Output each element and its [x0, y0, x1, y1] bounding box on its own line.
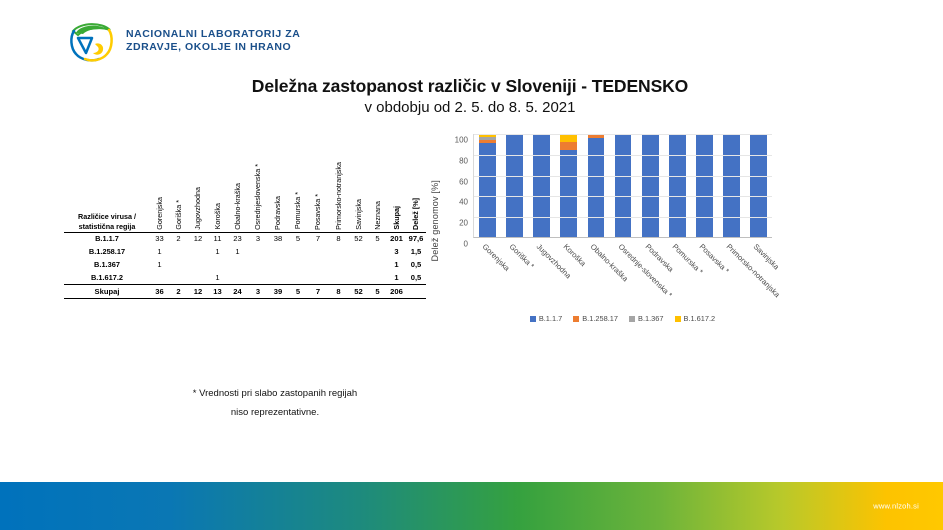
cell: 7: [308, 284, 328, 298]
chart-bar-slot[interactable]: [501, 134, 528, 237]
brand-name-line1: NACIONALNI LABORATORIJ ZA: [126, 28, 300, 41]
cell: 12: [188, 284, 208, 298]
chart-bar-segment[interactable]: [588, 138, 605, 237]
cell: 52: [349, 232, 368, 245]
cell: [188, 271, 208, 284]
cell: 5: [288, 232, 308, 245]
chart-bar[interactable]: [479, 134, 496, 237]
legend-label: B.1.367: [638, 314, 663, 323]
chart-bar-slot[interactable]: [718, 134, 745, 237]
col-header-koroska: Koroška: [208, 160, 227, 232]
cell-percent: [406, 284, 426, 298]
cell: 23: [227, 232, 248, 245]
footnote: * Vrednosti pri slabo zastopanih regijah…: [145, 385, 405, 422]
cell: 3: [248, 284, 268, 298]
col-header-savinjska: Savinjska: [349, 160, 368, 232]
cell: 1: [227, 245, 248, 258]
chart-gridline: [474, 196, 772, 197]
cell: 1: [150, 245, 169, 258]
chart-y-axis-ticks: 020406080100: [446, 134, 470, 238]
slide-canvas: NACIONALNI LABORATORIJ ZA ZDRAVJE, OKOLJ…: [0, 0, 943, 530]
chart-gridline: [474, 217, 772, 218]
cell: 2: [169, 284, 188, 298]
chart-x-axis-ticks: GorenjskaGoriška *JugovzhodnaKoroškaObal…: [473, 240, 772, 310]
cell: [349, 245, 368, 258]
cell: 52: [349, 284, 368, 298]
chart-x-tick-slot: Posavska *: [691, 240, 718, 310]
cell-total: 1: [387, 258, 406, 271]
col-header-goriska: Goriška *: [169, 160, 188, 232]
chart-bar-slot[interactable]: [474, 134, 501, 237]
brand-name: NACIONALNI LABORATORIJ ZA ZDRAVJE, OKOLJ…: [126, 28, 300, 54]
cell: 8: [328, 284, 349, 298]
legend-color-swatch: [530, 316, 536, 322]
cell: 3: [248, 232, 268, 245]
page-title: Deležna zastopanost različic v Sloveniji…: [180, 76, 760, 97]
cell: 13: [208, 284, 227, 298]
legend-color-swatch: [573, 316, 579, 322]
cell: 12: [188, 232, 208, 245]
cell: [308, 271, 328, 284]
chart-bar-slot[interactable]: [528, 134, 555, 237]
variants-table-container: Različice virusa / statistična regija Go…: [64, 160, 426, 299]
cell-total: 201: [387, 232, 406, 245]
chart-bar-segment[interactable]: [696, 134, 713, 237]
chart-y-tick: 100: [446, 136, 468, 145]
chart-bar[interactable]: [588, 134, 605, 237]
chart-bar-slot[interactable]: [555, 134, 582, 237]
chart-legend-item[interactable]: B.1.367: [629, 314, 663, 323]
cell: 7: [308, 232, 328, 245]
chart-x-tick-slot: Primorsko-notranjska: [718, 240, 745, 310]
nlzoh-logo-icon: [66, 16, 116, 66]
chart-plot-area: [473, 134, 772, 238]
chart-bar[interactable]: [560, 134, 577, 237]
page-subtitle: v obdobju od 2. 5. do 8. 5. 2021: [180, 99, 760, 116]
chart-x-tick-slot: Savinjska: [745, 240, 772, 310]
cell: [169, 258, 188, 271]
chart-bar-slot[interactable]: [637, 134, 664, 237]
cell: [248, 271, 268, 284]
corner-header-line2: statistična regija: [79, 222, 136, 231]
chart-bars: [474, 134, 772, 237]
chart-bar-segment[interactable]: [642, 134, 659, 237]
chart-x-tick-slot: Pomurska *: [663, 240, 690, 310]
chart-x-tick-slot: Obalno-kraška: [582, 240, 609, 310]
row-label: B.1.367: [64, 258, 150, 271]
chart-y-tick: 60: [446, 177, 468, 186]
row-label: B.1.258.17: [64, 245, 150, 258]
cell: [169, 271, 188, 284]
brand-logo: NACIONALNI LABORATORIJ ZA ZDRAVJE, OKOLJ…: [66, 16, 300, 66]
footnote-line2: niso reprezentativne.: [145, 404, 405, 423]
chart-bar-slot[interactable]: [691, 134, 718, 237]
cell-percent: 0,5: [406, 271, 426, 284]
cell: 5: [288, 284, 308, 298]
cell: [188, 258, 208, 271]
cell: 11: [208, 232, 227, 245]
chart-y-tick: 80: [446, 156, 468, 165]
cell: 38: [268, 232, 288, 245]
chart-x-tick-label: Savinjska: [752, 242, 781, 271]
row-label: B.1.617.2: [64, 271, 150, 284]
footer-url: www.nlzoh.si: [873, 502, 919, 511]
brand-name-line2: ZDRAVJE, OKOLJE IN HRANO: [126, 41, 300, 54]
cell: [248, 258, 268, 271]
cell: [268, 245, 288, 258]
cell: 8: [328, 232, 349, 245]
chart-bar-segment[interactable]: [560, 150, 577, 237]
chart-bar-segment[interactable]: [533, 134, 550, 237]
cell-total: 206: [387, 284, 406, 298]
table-row: B.1.617.2 1 1 0,5: [64, 271, 426, 284]
chart-bar[interactable]: [669, 134, 686, 237]
col-header-osrednjeslovenska: Osrednjeslovenska *: [248, 160, 268, 232]
chart-bar[interactable]: [615, 134, 632, 237]
col-header-primorsko-notranjska: Primorsko-notranjska: [328, 160, 349, 232]
chart-legend-item[interactable]: B.1.617.2: [675, 314, 716, 323]
col-header-skupaj: Skupaj: [387, 160, 406, 232]
corner-header-line1: Različice virusa /: [78, 212, 136, 221]
variants-table: Različice virusa / statistična regija Go…: [64, 160, 426, 299]
table-body: B.1.1.7 33 2 12 11 23 3 38 5 7 8 52 5 20…: [64, 232, 426, 298]
cell: [328, 271, 349, 284]
col-header-gorenjska: Gorenjska: [150, 160, 169, 232]
chart-legend-item[interactable]: B.1.258.17: [573, 314, 618, 323]
chart-bar[interactable]: [723, 134, 740, 237]
cell: [349, 271, 368, 284]
table-row: B.1.367 1 1 0,5: [64, 258, 426, 271]
cell-percent: 97,6: [406, 232, 426, 245]
chart-x-tick-slot: Osrednje-slovenska *: [609, 240, 636, 310]
table-row: B.1.1.7 33 2 12 11 23 3 38 5 7 8 52 5 20…: [64, 232, 426, 245]
row-label: B.1.1.7: [64, 232, 150, 245]
col-header-neznana: Neznana: [368, 160, 387, 232]
legend-color-swatch: [629, 316, 635, 322]
chart-bar[interactable]: [506, 134, 523, 237]
cell: 33: [150, 232, 169, 245]
cell: [288, 271, 308, 284]
chart-y-axis-label: Delež genomov [%]: [430, 180, 440, 261]
col-header-delez: Delež [%]: [406, 160, 426, 232]
chart-x-tick-slot: Koroška: [555, 240, 582, 310]
cell: [169, 245, 188, 258]
chart-bar[interactable]: [750, 134, 767, 237]
chart-bar[interactable]: [533, 134, 550, 237]
cell: 5: [368, 284, 387, 298]
cell-percent: 1,5: [406, 245, 426, 258]
col-header-posavska: Posavska *: [308, 160, 328, 232]
cell: [308, 245, 328, 258]
cell: [368, 271, 387, 284]
legend-label: B.1.1.7: [539, 314, 562, 323]
cell: [150, 271, 169, 284]
cell: [188, 245, 208, 258]
legend-label: B.1.258.17: [582, 314, 618, 323]
chart-bar[interactable]: [642, 134, 659, 237]
cell: [248, 245, 268, 258]
chart-bar-slot[interactable]: [745, 134, 772, 237]
variants-share-chart: Delež genomov [%] 020406080100 Gorenjska…: [432, 128, 782, 343]
cell: [368, 245, 387, 258]
footer-bar: www.nlzoh.si: [0, 482, 943, 530]
chart-gridline: [474, 176, 772, 177]
chart-bar-segment[interactable]: [669, 134, 686, 237]
chart-bar-segment[interactable]: [506, 134, 523, 237]
cell: [227, 271, 248, 284]
col-header-podravska: Podravska: [268, 160, 288, 232]
cell: [208, 258, 227, 271]
chart-x-tick-slot: Podravska: [636, 240, 663, 310]
chart-bar-segment[interactable]: [723, 134, 740, 237]
cell: 24: [227, 284, 248, 298]
cell: 1: [208, 271, 227, 284]
cell: [288, 258, 308, 271]
cell: [268, 258, 288, 271]
legend-label: B.1.617.2: [684, 314, 716, 323]
chart-gridline: [474, 134, 772, 135]
cell: 1: [208, 245, 227, 258]
chart-bar-slot[interactable]: [609, 134, 636, 237]
chart-bar-slot[interactable]: [664, 134, 691, 237]
cell: [368, 258, 387, 271]
chart-bar-slot[interactable]: [582, 134, 609, 237]
chart-x-tick-slot: Jugovzhodna: [527, 240, 554, 310]
chart-y-tick: 20: [446, 219, 468, 228]
table-row: B.1.258.17 1 1 1 3 1,5: [64, 245, 426, 258]
cell: [308, 258, 328, 271]
col-header-jugovzhodna: Jugovzhodna: [188, 160, 208, 232]
cell-total: 1: [387, 271, 406, 284]
table-corner-header: Različice virusa / statistična regija: [64, 160, 150, 232]
chart-y-tick: 40: [446, 198, 468, 207]
chart-bar-segment[interactable]: [750, 134, 767, 237]
cell-total: 3: [387, 245, 406, 258]
col-header-obalno-kraska: Obalno-kraška: [227, 160, 248, 232]
col-header-pomurska: Pomurska *: [288, 160, 308, 232]
chart-legend-item[interactable]: B.1.1.7: [530, 314, 562, 323]
cell: [328, 245, 349, 258]
cell: 5: [368, 232, 387, 245]
table-header-row: Različice virusa / statistična regija Go…: [64, 160, 426, 232]
cell: 2: [169, 232, 188, 245]
cell: 39: [268, 284, 288, 298]
cell: [268, 271, 288, 284]
cell: 1: [150, 258, 169, 271]
chart-legend: B.1.1.7B.1.258.17B.1.367B.1.617.2: [473, 314, 772, 323]
legend-color-swatch: [675, 316, 681, 322]
cell: [328, 258, 349, 271]
chart-x-tick-slot: Goriška *: [500, 240, 527, 310]
chart-bar-segment[interactable]: [615, 134, 632, 237]
cell: 36: [150, 284, 169, 298]
chart-gridline: [474, 155, 772, 156]
cell: [288, 245, 308, 258]
cell: [227, 258, 248, 271]
chart-x-tick-slot: Gorenjska: [473, 240, 500, 310]
chart-bar-segment[interactable]: [560, 142, 577, 150]
table-total-row: Skupaj 36 2 12 13 24 3 39 5 7 8 52 5 206: [64, 284, 426, 298]
chart-y-tick: 0: [446, 240, 468, 249]
cell-percent: 0,5: [406, 258, 426, 271]
total-row-label: Skupaj: [64, 284, 150, 298]
footnote-line1: * Vrednosti pri slabo zastopanih regijah: [145, 385, 405, 404]
chart-bar-segment[interactable]: [560, 134, 577, 142]
chart-bar[interactable]: [696, 134, 713, 237]
chart-bar-segment[interactable]: [479, 143, 496, 237]
cell: [349, 258, 368, 271]
